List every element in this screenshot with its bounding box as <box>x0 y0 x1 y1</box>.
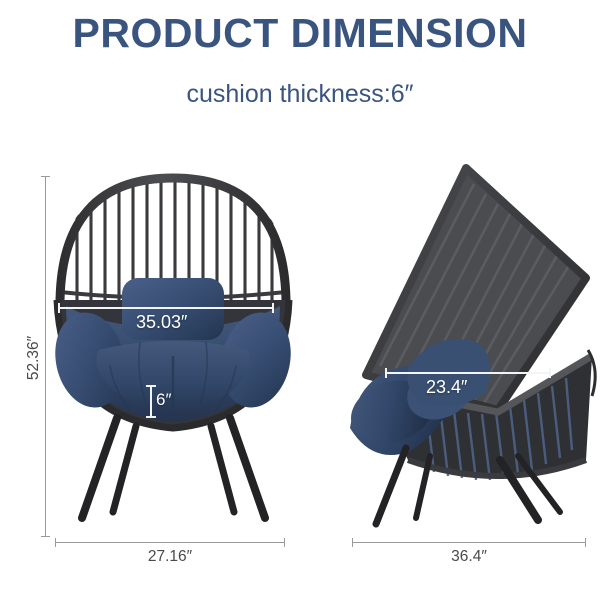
dim-line-overall-depth <box>352 542 586 543</box>
side-view-chair-illustration <box>348 160 598 530</box>
dim-line-seat-width <box>58 307 274 309</box>
dim-label-cushion-thickness: 6″ <box>156 390 171 410</box>
legs-front <box>82 418 265 518</box>
dim-line-overall-height <box>45 176 46 537</box>
dim-line-seat-depth <box>385 372 551 374</box>
dim-label-seat-depth: 23.4″ <box>426 377 467 398</box>
dim-line-overall-width <box>55 542 285 543</box>
dim-label-overall-depth: 36.4″ <box>352 548 586 566</box>
front-view-chair-illustration <box>40 160 310 530</box>
dim-line-cushion-thickness <box>150 385 152 418</box>
product-dimension-diagram: PRODUCT DIMENSION cushion thickness:6″ <box>0 0 600 600</box>
page-subtitle: cushion thickness:6″ <box>0 80 600 109</box>
dim-label-overall-height: 52.36″ <box>25 321 43 395</box>
dim-label-overall-width: 27.16″ <box>55 548 285 566</box>
dim-label-seat-width: 35.03″ <box>136 312 187 333</box>
page-title: PRODUCT DIMENSION <box>0 12 600 55</box>
